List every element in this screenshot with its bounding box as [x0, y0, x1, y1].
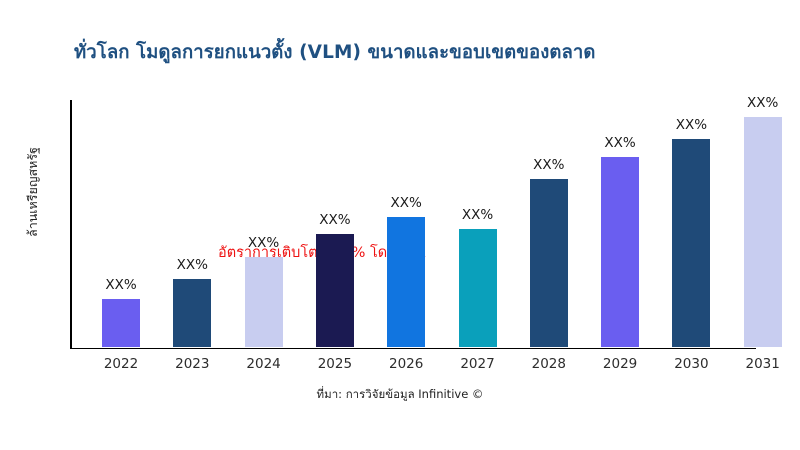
- bar-2027[interactable]: XX%: [459, 229, 497, 347]
- bar-2022[interactable]: XX%: [102, 299, 140, 347]
- x-tick-2027: 2027: [460, 356, 494, 372]
- bar-value-label: XX%: [533, 157, 564, 173]
- bar-2031[interactable]: XX%: [744, 117, 782, 347]
- x-tick-2026: 2026: [389, 356, 423, 372]
- bar-value-label: XX%: [604, 135, 635, 151]
- bar-value-label: XX%: [391, 195, 422, 211]
- bar-rect: [601, 157, 639, 347]
- bar-value-label: XX%: [105, 277, 136, 293]
- bar-2026[interactable]: XX%: [387, 217, 425, 347]
- bar-chart: ทั่วโลก โมดูลการยกแนวตั้ง (VLM) ขนาดและข…: [0, 0, 800, 450]
- bar-rect: [173, 279, 211, 347]
- x-tick-2031: 2031: [746, 356, 780, 372]
- x-tick-2029: 2029: [603, 356, 637, 372]
- x-tick-2025: 2025: [318, 356, 352, 372]
- x-tick-2022: 2022: [104, 356, 138, 372]
- x-tick-2030: 2030: [674, 356, 708, 372]
- y-axis-line: [70, 100, 72, 349]
- bar-rect: [530, 179, 568, 347]
- bar-rect: [245, 257, 283, 347]
- x-tick-2024: 2024: [246, 356, 280, 372]
- bar-value-label: XX%: [319, 212, 350, 228]
- bar-rect: [744, 117, 782, 347]
- plot-area: อัตราการเติบโตที่ XX% โดย IDR XX%XX%XX%X…: [70, 100, 756, 349]
- bar-2030[interactable]: XX%: [672, 139, 710, 347]
- bar-2029[interactable]: XX%: [601, 157, 639, 347]
- bar-value-label: XX%: [747, 95, 778, 111]
- bar-2028[interactable]: XX%: [530, 179, 568, 347]
- bar-value-label: XX%: [177, 257, 208, 273]
- bar-rect: [387, 217, 425, 347]
- source-note: ที่มา: การวิจัยข้อมูล Infinitive ©: [0, 386, 800, 404]
- bar-rect: [102, 299, 140, 347]
- chart-title: ทั่วโลก โมดูลการยกแนวตั้ง (VLM) ขนาดและข…: [74, 38, 774, 67]
- bar-value-label: XX%: [248, 235, 279, 251]
- y-axis-label: ล้านเหรียญสหรัฐ: [23, 112, 43, 272]
- bar-rect: [459, 229, 497, 347]
- x-tick-2028: 2028: [532, 356, 566, 372]
- bar-value-label: XX%: [676, 117, 707, 133]
- bar-rect: [672, 139, 710, 347]
- bar-value-label: XX%: [462, 207, 493, 223]
- bar-rect: [316, 234, 354, 347]
- bar-2025[interactable]: XX%: [316, 234, 354, 347]
- x-axis-line: [70, 348, 756, 350]
- bar-2023[interactable]: XX%: [173, 279, 211, 347]
- bar-2024[interactable]: XX%: [245, 257, 283, 347]
- x-tick-2023: 2023: [175, 356, 209, 372]
